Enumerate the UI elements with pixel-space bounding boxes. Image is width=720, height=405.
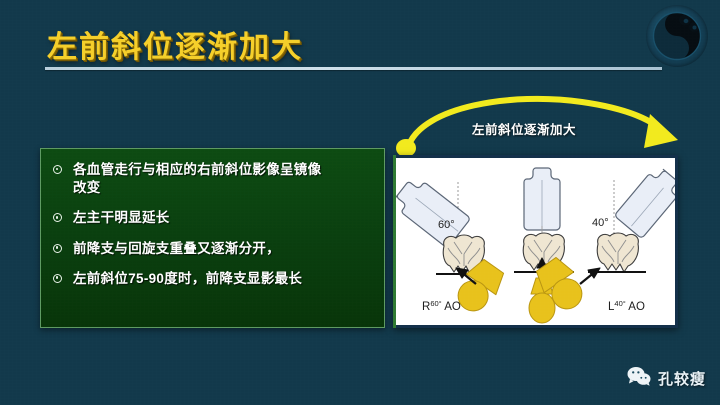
bullet-icon — [53, 244, 62, 253]
watermark-name: 孔较瘦 — [658, 368, 706, 389]
list-item: 各血管走行与相应的右前斜位影像呈镜像 改变 — [49, 161, 374, 197]
angle-label-left: 60° — [438, 219, 455, 231]
bullet-icon — [53, 274, 62, 283]
angle-label-right: 40° — [592, 217, 609, 229]
page-title: 左前斜位逐渐加大 — [47, 22, 303, 66]
bullet-list: 各血管走行与相应的右前斜位影像呈镜像 改变 左主干明显延长 前降支与回旋支重叠又… — [49, 161, 374, 288]
panel-caption-left: R60° AO — [422, 299, 461, 313]
bullet-icon — [53, 213, 62, 222]
panda-logo — [646, 5, 708, 67]
list-item: 左前斜位75-90度时，前降支显影最长 — [49, 270, 374, 288]
bullet-text-line1: 左前斜位75-90度时，前降支显影最长 — [73, 271, 302, 286]
panel-caption-right: L40° AO — [608, 299, 645, 313]
bullet-text-line1: 左主干明显延长 — [73, 210, 170, 225]
bullet-icon — [53, 165, 62, 174]
bullet-text-line2: 改变 — [73, 179, 374, 197]
bullet-text-line1: 前降支与回旋支重叠又逐渐分开， — [73, 241, 280, 256]
title-underline — [45, 67, 662, 70]
wechat-icon — [627, 366, 651, 391]
arrow-caption: 左前斜位逐渐加大 — [472, 119, 576, 138]
list-item: 前降支与回旋支重叠又逐渐分开， — [49, 240, 374, 258]
slide-root: 左前斜位逐渐加大 各血管 — [0, 0, 720, 405]
content-box: 各血管走行与相应的右前斜位影像呈镜像 改变 左主干明显延长 前降支与回旋支重叠又… — [40, 148, 385, 328]
projection-diagram: 60° 40° R60° AO L40° AO — [393, 155, 678, 328]
diagram-left-edge — [393, 155, 396, 328]
list-item: 左主干明显延长 — [49, 209, 374, 227]
watermark: 孔较瘦 — [627, 366, 706, 391]
bullet-text-line1: 各血管走行与相应的右前斜位影像呈镜像 — [73, 162, 321, 177]
